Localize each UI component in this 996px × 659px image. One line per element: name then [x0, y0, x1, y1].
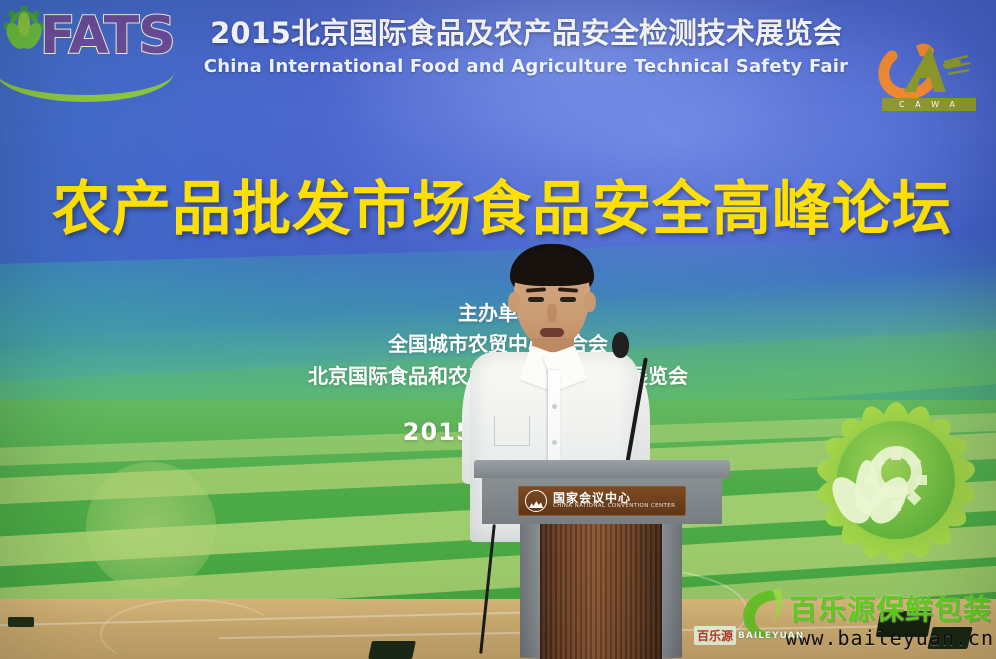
- wheat-a-swoosh-icon: [876, 38, 984, 100]
- banner-header-en: China International Food and Agriculture…: [196, 56, 856, 77]
- watermark-badge-cn: 百乐源: [694, 626, 736, 645]
- podium-side-panel: [520, 520, 542, 659]
- speaker-mouth: [540, 328, 564, 337]
- podium: 国家会议中心 CHINA NATIONAL CONVENTION CENTER: [474, 460, 730, 659]
- green-sunflower-emblem: [798, 382, 994, 578]
- watermark-brand-cn: 百乐源保鲜包装: [724, 588, 996, 628]
- floor-marking-arc: [100, 599, 280, 659]
- forum-main-title: 农产品批发市场食品安全高峰论坛: [46, 176, 958, 242]
- fats-logo: FATS: [2, 0, 178, 112]
- speaker-ear: [584, 292, 596, 312]
- photo-stage: FATS 2015北京国际食品及农产品安全检测技术展览会 China Inter…: [0, 0, 996, 659]
- banner-header-cn: 2015北京国际食品及农产品安全检测技术展览会: [196, 14, 856, 52]
- podium-venue-sign: 国家会议中心 CHINA NATIONAL CONVENTION CENTER: [518, 486, 686, 516]
- floor-object: [8, 617, 34, 627]
- watermark-badge: 百乐源 BAILEYUAN: [694, 626, 804, 645]
- podium-cable: [479, 524, 496, 654]
- cawa-wordmark: C A W A: [882, 98, 976, 111]
- fats-swoosh: [0, 72, 174, 102]
- podium-top-surface: [474, 460, 730, 478]
- mountain-star-icon: [525, 490, 547, 512]
- watermark: 百乐源保鲜包装 www.baileyuan.cn 百乐源 BAILEYUAN: [724, 582, 996, 659]
- podium-wood-column: [540, 522, 662, 659]
- watermark-badge-en: BAILEYUAN: [738, 631, 804, 641]
- speaker-eye: [528, 297, 544, 302]
- floor-object: [368, 641, 416, 659]
- venue-name-en: CHINA NATIONAL CONVENTION CENTER: [553, 504, 675, 510]
- podium-side-panel: [660, 520, 682, 659]
- speaker-shirt-button: [552, 404, 557, 409]
- speaker-nose: [547, 304, 557, 322]
- speaker-shirt-button: [552, 440, 557, 445]
- speaker-ear: [508, 292, 520, 312]
- fats-wordmark: FATS: [40, 6, 175, 66]
- cawa-logo: C A W A: [876, 38, 984, 118]
- speaker-eye: [560, 297, 576, 302]
- microphone-icon: [612, 332, 629, 358]
- podium-wood-grain: [540, 522, 662, 659]
- speaker-shirt-pocket: [494, 416, 530, 446]
